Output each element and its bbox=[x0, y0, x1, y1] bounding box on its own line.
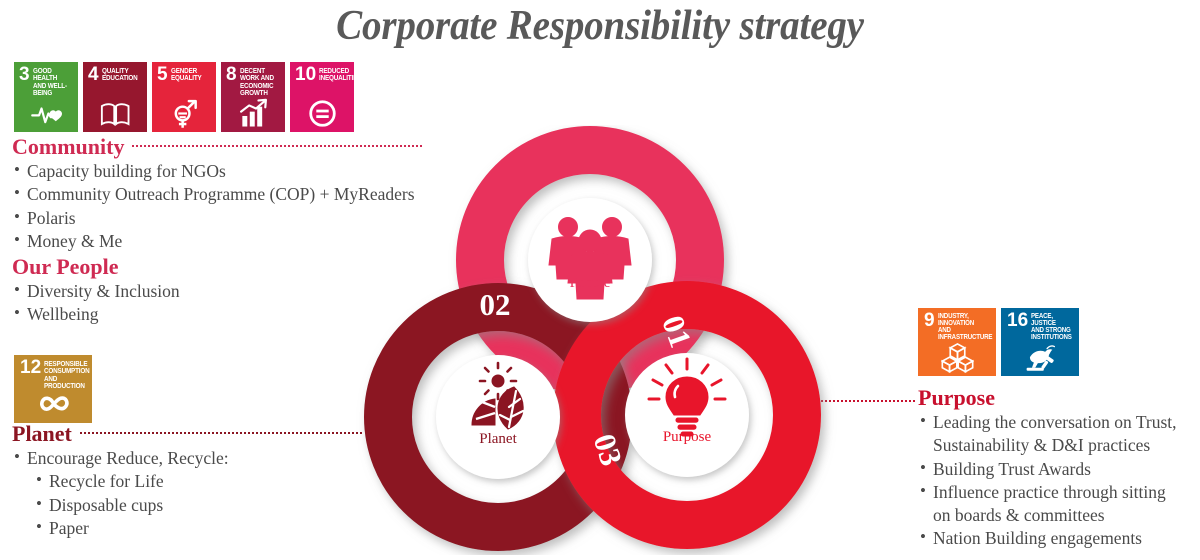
sdg-tile-header: 4QUALITYEDUCATION bbox=[83, 62, 147, 83]
planet-list: Encourage Reduce, Recycle: bbox=[12, 447, 362, 470]
rings-svg: People bbox=[355, 125, 865, 555]
community-heading: Community bbox=[12, 136, 124, 158]
step-number-02: 02 bbox=[480, 287, 511, 322]
list-item: Nation Building engagements bbox=[918, 527, 1180, 550]
sdg-tile-10[interactable]: 10REDUCEDINEQUALITIES bbox=[290, 62, 354, 132]
list-item: Disposable cups bbox=[34, 494, 362, 517]
gender-equality-icon bbox=[152, 98, 216, 129]
three-ring-diagram: People bbox=[355, 125, 865, 555]
sdg-tile-12[interactable]: 12RESPONSIBLECONSUMPTIONAND PRODUCTION bbox=[14, 355, 92, 423]
equals-circle-icon bbox=[290, 98, 354, 129]
sdg-number: 5 bbox=[157, 67, 168, 83]
list-item: Diversity & Inclusion bbox=[12, 280, 180, 303]
sdg-number: 4 bbox=[88, 67, 99, 83]
sdg-tile-3[interactable]: 3GOOD HEALTHAND WELL-BEING bbox=[14, 62, 78, 132]
list-item: Building Trust Awards bbox=[918, 458, 1180, 481]
list-item: Paper bbox=[34, 517, 362, 540]
sdg-number: 8 bbox=[226, 67, 237, 83]
growth-chart-icon bbox=[221, 98, 285, 129]
planet-heading: Planet bbox=[12, 423, 72, 445]
purpose-heading: Purpose bbox=[918, 387, 995, 409]
sdg-caption: QUALITYEDUCATION bbox=[102, 67, 138, 82]
sdg-caption: PEACE, JUSTICEAND STRONGINSTITUTIONS bbox=[1031, 313, 1072, 342]
list-item: Influence practice through sitting on bo… bbox=[918, 481, 1180, 528]
sdg-tile-9[interactable]: 9INDUSTRY, INNOVATIONAND INFRASTRUCTURE bbox=[918, 308, 996, 376]
sdg-tile-header: 5GENDEREQUALITY bbox=[152, 62, 216, 83]
slide-canvas: Corporate Responsibility strategy 3GOOD … bbox=[0, 0, 1200, 557]
sdg-number: 9 bbox=[924, 313, 935, 329]
sdg-tile-8[interactable]: 8DECENT WORK ANDECONOMIC GROWTH bbox=[221, 62, 285, 132]
people-label: People bbox=[570, 275, 611, 291]
sdg-icon-row-purpose: 9INDUSTRY, INNOVATIONAND INFRASTRUCTURE … bbox=[918, 308, 1079, 376]
sdg-caption: REDUCEDINEQUALITIES bbox=[319, 67, 354, 82]
sdg-icon-row-planet: 12RESPONSIBLECONSUMPTIONAND PRODUCTION bbox=[14, 355, 92, 423]
our-people-list: Diversity & Inclusion Wellbeing bbox=[12, 280, 180, 327]
our-people-heading-row: Our People bbox=[12, 256, 180, 278]
sdg-tile-header: 9INDUSTRY, INNOVATIONAND INFRASTRUCTURE bbox=[918, 308, 996, 342]
our-people-heading: Our People bbox=[12, 256, 119, 278]
sdg-caption: DECENT WORK ANDECONOMIC GROWTH bbox=[240, 67, 276, 96]
section-purpose: Purpose Leading the conversation on Trus… bbox=[918, 387, 1180, 551]
section-our-people: Our People Diversity & Inclusion Wellbei… bbox=[12, 256, 180, 327]
dove-gavel-icon bbox=[1001, 340, 1079, 373]
sdg-number: 10 bbox=[295, 67, 316, 83]
planet-sublist: Recycle for Life Disposable cups Paper bbox=[12, 470, 362, 540]
sdg-tile-header: 8DECENT WORK ANDECONOMIC GROWTH bbox=[221, 62, 285, 96]
planet-label: Planet bbox=[479, 431, 517, 447]
sdg-tile-4[interactable]: 4QUALITYEDUCATION bbox=[83, 62, 147, 132]
sdg-caption: INDUSTRY, INNOVATIONAND INFRASTRUCTURE bbox=[938, 313, 992, 342]
section-planet: Planet Encourage Reduce, Recycle: Recycl… bbox=[12, 423, 362, 540]
planet-leader-line bbox=[80, 432, 362, 436]
sdg-icon-row-top: 3GOOD HEALTHAND WELL-BEING 4QUALITYEDUCA… bbox=[14, 62, 354, 132]
open-book-icon bbox=[83, 98, 147, 129]
cubes-icon bbox=[918, 340, 996, 373]
planet-heading-row: Planet bbox=[12, 423, 362, 445]
sdg-tile-header: 12RESPONSIBLECONSUMPTIONAND PRODUCTION bbox=[14, 355, 92, 389]
list-item: Encourage Reduce, Recycle: bbox=[12, 447, 362, 470]
purpose-label: Purpose bbox=[663, 429, 712, 445]
purpose-list: Leading the conversation on Trust, Susta… bbox=[918, 411, 1180, 551]
sdg-number: 12 bbox=[20, 360, 41, 376]
sdg-tile-header: 10REDUCEDINEQUALITIES bbox=[290, 62, 354, 83]
sdg-tile-header: 3GOOD HEALTHAND WELL-BEING bbox=[14, 62, 78, 96]
sdg-caption: GENDEREQUALITY bbox=[171, 67, 202, 82]
heartbeat-icon bbox=[14, 98, 78, 129]
sdg-caption: GOOD HEALTHAND WELL-BEING bbox=[33, 67, 69, 96]
sdg-tile-header: 16PEACE, JUSTICEAND STRONGINSTITUTIONS bbox=[1001, 308, 1079, 342]
infinity-icon bbox=[14, 387, 92, 420]
sdg-caption: RESPONSIBLECONSUMPTIONAND PRODUCTION bbox=[44, 360, 90, 389]
sdg-tile-16[interactable]: 16PEACE, JUSTICEAND STRONGINSTITUTIONS bbox=[1001, 308, 1079, 376]
list-item: Wellbeing bbox=[12, 303, 180, 326]
purpose-heading-row: Purpose bbox=[918, 387, 1180, 409]
sdg-number: 3 bbox=[19, 67, 30, 83]
list-item: Leading the conversation on Trust, Susta… bbox=[918, 411, 1180, 458]
sdg-number: 16 bbox=[1007, 313, 1028, 329]
page-title: Corporate Responsibility strategy bbox=[42, 2, 1158, 50]
list-item: Recycle for Life bbox=[34, 470, 362, 493]
sdg-tile-5[interactable]: 5GENDEREQUALITY bbox=[152, 62, 216, 132]
